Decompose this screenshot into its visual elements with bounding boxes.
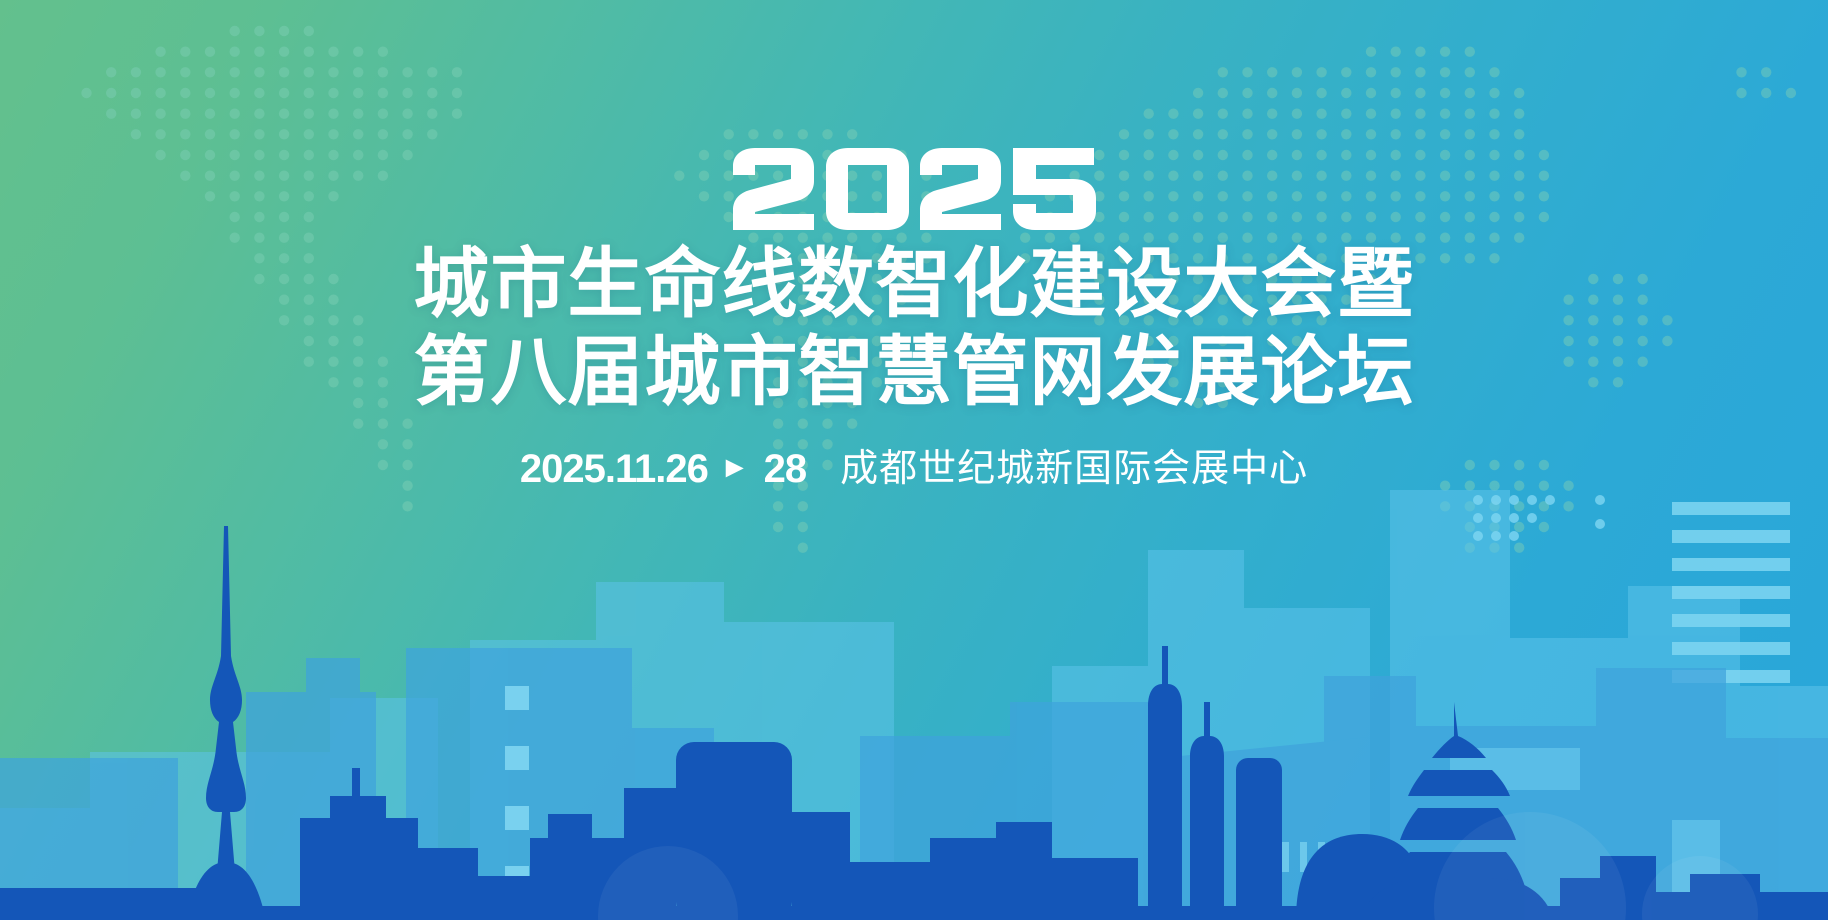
event-date-start: 2025.11.26 (520, 446, 708, 492)
year-2025 (0, 148, 1828, 230)
event-venue: 成都世纪城新国际会展中心 (840, 446, 1308, 492)
conference-banner: 城市生命线数智化建设大会暨 第八届城市智慧管网发展论坛 2025.11.26 ►… (0, 0, 1828, 920)
arrow-right-icon: ► (720, 445, 750, 491)
skyline-near-buildings (0, 490, 1828, 920)
tv-tower-silhouette (186, 526, 266, 920)
event-meta: 2025.11.26 ► 28 成都世纪城新国际会展中心 (0, 446, 1828, 492)
title-line-2: 第八届城市智慧管网发展论坛 (0, 330, 1828, 416)
banner-content: 城市生命线数智化建设大会暨 第八届城市智慧管网发展论坛 2025.11.26 ►… (0, 0, 1828, 492)
title-line-1: 城市生命线数智化建设大会暨 (0, 242, 1828, 328)
event-date-end: 28 (764, 446, 807, 492)
